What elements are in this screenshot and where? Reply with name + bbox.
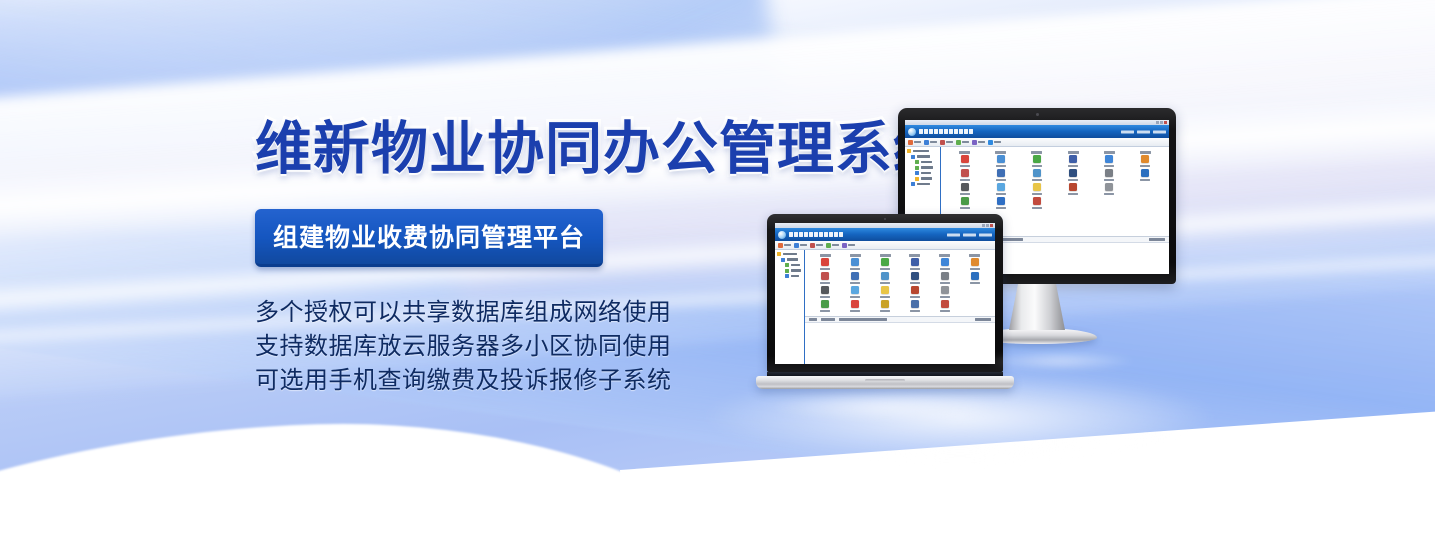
toolbar-button-add[interactable] (778, 243, 791, 248)
module-owner-file[interactable] (947, 151, 982, 167)
close-button[interactable] (990, 224, 993, 227)
app-body (775, 250, 995, 364)
print-icon (972, 140, 977, 145)
meter-reading-icon (1033, 155, 1041, 163)
sms-push-icon (961, 197, 969, 205)
header-link-3[interactable] (1153, 130, 1166, 133)
tree-node-1-4[interactable] (907, 177, 938, 181)
tools-icon (911, 300, 919, 308)
module-receipt-print[interactable] (901, 254, 930, 270)
promo-banner: 维新物业协同办公管理系统 组建物业收费协同管理平台 多个授权可以共享数据库组成网… (0, 0, 1435, 538)
report-query-icon (1105, 155, 1113, 163)
laptop-base (756, 376, 1014, 389)
app-header-links[interactable] (947, 233, 992, 236)
tree-node-1-1[interactable] (907, 160, 938, 164)
staff-manage-icon (961, 183, 969, 191)
node-icon (911, 155, 915, 159)
node-icon (785, 274, 789, 278)
arrears-notice-icon (1141, 155, 1149, 163)
maximize-button[interactable] (986, 224, 989, 227)
announce-icon (997, 183, 1005, 191)
refresh-icon (956, 140, 961, 145)
module-complaint[interactable] (1056, 169, 1091, 181)
app-header-title (919, 129, 973, 134)
toolbar-button-edit[interactable] (924, 140, 937, 145)
meter-reading-icon (881, 258, 889, 266)
tree-node-root[interactable] (907, 149, 938, 153)
toolbar-button-refresh[interactable] (826, 243, 839, 248)
device-ledger-icon (997, 169, 1005, 177)
parking-manage-icon (961, 169, 969, 177)
backup-restore-icon (851, 300, 859, 308)
module-document[interactable] (871, 286, 900, 298)
report-query-icon (941, 258, 949, 266)
module-parking-manage[interactable] (947, 169, 982, 181)
app-window-laptop (775, 223, 995, 364)
tree-node-1-2[interactable] (907, 166, 938, 170)
module-system-setting[interactable] (871, 300, 900, 312)
contract-icon (971, 272, 979, 280)
module-sms-push[interactable] (947, 197, 982, 209)
app-toolbar[interactable] (775, 241, 995, 250)
header-link-2[interactable] (1137, 130, 1150, 133)
finance-icon (1105, 183, 1113, 191)
folder-icon (907, 149, 911, 153)
tree-node-1-1[interactable] (777, 263, 802, 267)
backup-restore-icon (997, 197, 1005, 205)
refresh-icon (826, 243, 831, 248)
module-device-ledger[interactable] (841, 272, 870, 284)
module-finance[interactable] (930, 286, 959, 298)
module-document[interactable] (1019, 183, 1054, 195)
contract-icon (1141, 169, 1149, 177)
node-icon (915, 177, 919, 181)
app-logo-icon (908, 128, 916, 136)
add-icon (908, 140, 913, 145)
receipt-print-icon (1069, 155, 1077, 163)
patrol-record-icon (941, 272, 949, 280)
repair-order-icon (881, 272, 889, 280)
arrears-notice-icon (971, 258, 979, 266)
status-panel (805, 316, 995, 364)
toolbar-button-delete[interactable] (810, 243, 823, 248)
warehouse-icon (911, 286, 919, 294)
module-arrears-notice[interactable] (1128, 151, 1163, 167)
toolbar-button-refresh[interactable] (956, 140, 969, 145)
module-finance[interactable] (1092, 183, 1127, 195)
module-owner-file[interactable] (811, 254, 840, 270)
edit-icon (924, 140, 929, 145)
folder-icon (777, 252, 781, 256)
status-panel-body (805, 323, 995, 364)
tree-node-2[interactable] (907, 182, 938, 186)
delete-icon (810, 243, 815, 248)
repair-order-icon (1033, 169, 1041, 177)
tree-node-root[interactable] (777, 252, 802, 256)
module-help[interactable] (930, 300, 959, 312)
header-link-1[interactable] (1121, 130, 1134, 133)
module-repair-order[interactable] (871, 272, 900, 284)
charge-entry-icon (851, 258, 859, 266)
app-main-content (805, 250, 995, 364)
delete-icon (940, 140, 945, 145)
trackpad-notch (865, 379, 905, 382)
device-ledger-icon (851, 272, 859, 280)
tagline-badge: 组建物业收费协同管理平台 (255, 209, 603, 267)
document-icon (881, 286, 889, 294)
complaint-icon (911, 272, 919, 280)
minimize-button[interactable] (1156, 121, 1159, 124)
app-header-title (789, 232, 843, 237)
module-parking-manage[interactable] (811, 272, 840, 284)
node-icon (785, 263, 789, 267)
module-charge-entry[interactable] (841, 254, 870, 270)
staff-manage-icon (821, 286, 829, 294)
help-icon (941, 300, 949, 308)
app-header (775, 228, 995, 241)
system-setting-icon (881, 300, 889, 308)
sidebar-tree[interactable] (775, 250, 805, 364)
warehouse-icon (1069, 183, 1077, 191)
app-header (905, 125, 1169, 138)
laptop-lid (767, 214, 1003, 372)
toolbar-button-delete[interactable] (940, 140, 953, 145)
module-device-ledger[interactable] (983, 169, 1018, 181)
module-warehouse[interactable] (901, 286, 930, 298)
edit-icon (794, 243, 799, 248)
toolbar-button-exit[interactable] (988, 140, 1001, 145)
module-meter-reading[interactable] (871, 254, 900, 270)
module-contract[interactable] (960, 272, 989, 284)
module-contract[interactable] (1128, 169, 1163, 181)
tree-node-1[interactable] (907, 155, 938, 159)
announce-icon (851, 286, 859, 294)
module-icon-grid[interactable] (805, 250, 995, 316)
monitor-stand-neck (1009, 284, 1065, 330)
app-header-links[interactable] (1121, 130, 1166, 133)
close-button[interactable] (1164, 121, 1167, 124)
toolbar-button-edit[interactable] (794, 243, 807, 248)
node-icon (915, 171, 919, 175)
finance-icon (941, 286, 949, 294)
add-icon (778, 243, 783, 248)
charge-entry-icon (997, 155, 1005, 163)
toolbar-button-print[interactable] (972, 140, 985, 145)
parking-manage-icon (821, 272, 829, 280)
patrol-record-icon (1105, 169, 1113, 177)
laptop-screen (775, 223, 995, 364)
header-link-1[interactable] (947, 233, 960, 236)
minimize-button[interactable] (982, 224, 985, 227)
module-announce[interactable] (841, 286, 870, 298)
module-receipt-print[interactable] (1056, 151, 1091, 167)
document-icon (1033, 183, 1041, 191)
app-logo-icon (778, 231, 786, 239)
module-report-query[interactable] (1092, 151, 1127, 167)
owner-file-icon (821, 258, 829, 266)
module-warehouse[interactable] (1056, 183, 1091, 195)
page-title: 维新物业协同办公管理系统 (255, 118, 895, 181)
module-announce[interactable] (983, 183, 1018, 195)
exit-icon (988, 140, 993, 145)
webcam-icon (1036, 113, 1039, 116)
module-charge-entry[interactable] (983, 151, 1018, 167)
module-system-setting[interactable] (1019, 197, 1054, 209)
module-patrol-record[interactable] (930, 272, 959, 284)
webcam-icon (884, 218, 887, 221)
module-sms-push[interactable] (811, 300, 840, 312)
module-meter-reading[interactable] (1019, 151, 1054, 167)
node-icon (915, 166, 919, 170)
tree-node-1[interactable] (777, 258, 802, 262)
toolbar-button-add[interactable] (908, 140, 921, 145)
tree-node-1-2[interactable] (777, 269, 802, 273)
module-report-query[interactable] (930, 254, 959, 270)
tree-node-1-3[interactable] (907, 171, 938, 175)
module-backup-restore[interactable] (983, 197, 1018, 209)
owner-file-icon (961, 155, 969, 163)
header-link-3[interactable] (979, 233, 992, 236)
module-staff-manage[interactable] (811, 286, 840, 298)
node-icon (911, 182, 915, 186)
module-repair-order[interactable] (1019, 169, 1054, 181)
module-tools[interactable] (901, 300, 930, 312)
receipt-print-icon (911, 258, 919, 266)
system-setting-icon (1033, 197, 1041, 205)
tree-node-1-3[interactable] (777, 274, 802, 278)
node-icon (915, 160, 919, 164)
toolbar-button-print[interactable] (842, 243, 855, 248)
header-link-2[interactable] (963, 233, 976, 236)
maximize-button[interactable] (1160, 121, 1163, 124)
complaint-icon (1069, 169, 1077, 177)
module-staff-manage[interactable] (947, 183, 982, 195)
module-complaint[interactable] (901, 272, 930, 284)
node-icon (781, 258, 785, 262)
laptop-device (756, 214, 1014, 389)
module-arrears-notice[interactable] (960, 254, 989, 270)
module-backup-restore[interactable] (841, 300, 870, 312)
sms-push-icon (821, 300, 829, 308)
print-icon (842, 243, 847, 248)
node-icon (785, 269, 789, 273)
app-toolbar[interactable] (905, 138, 1169, 147)
module-patrol-record[interactable] (1092, 169, 1127, 181)
